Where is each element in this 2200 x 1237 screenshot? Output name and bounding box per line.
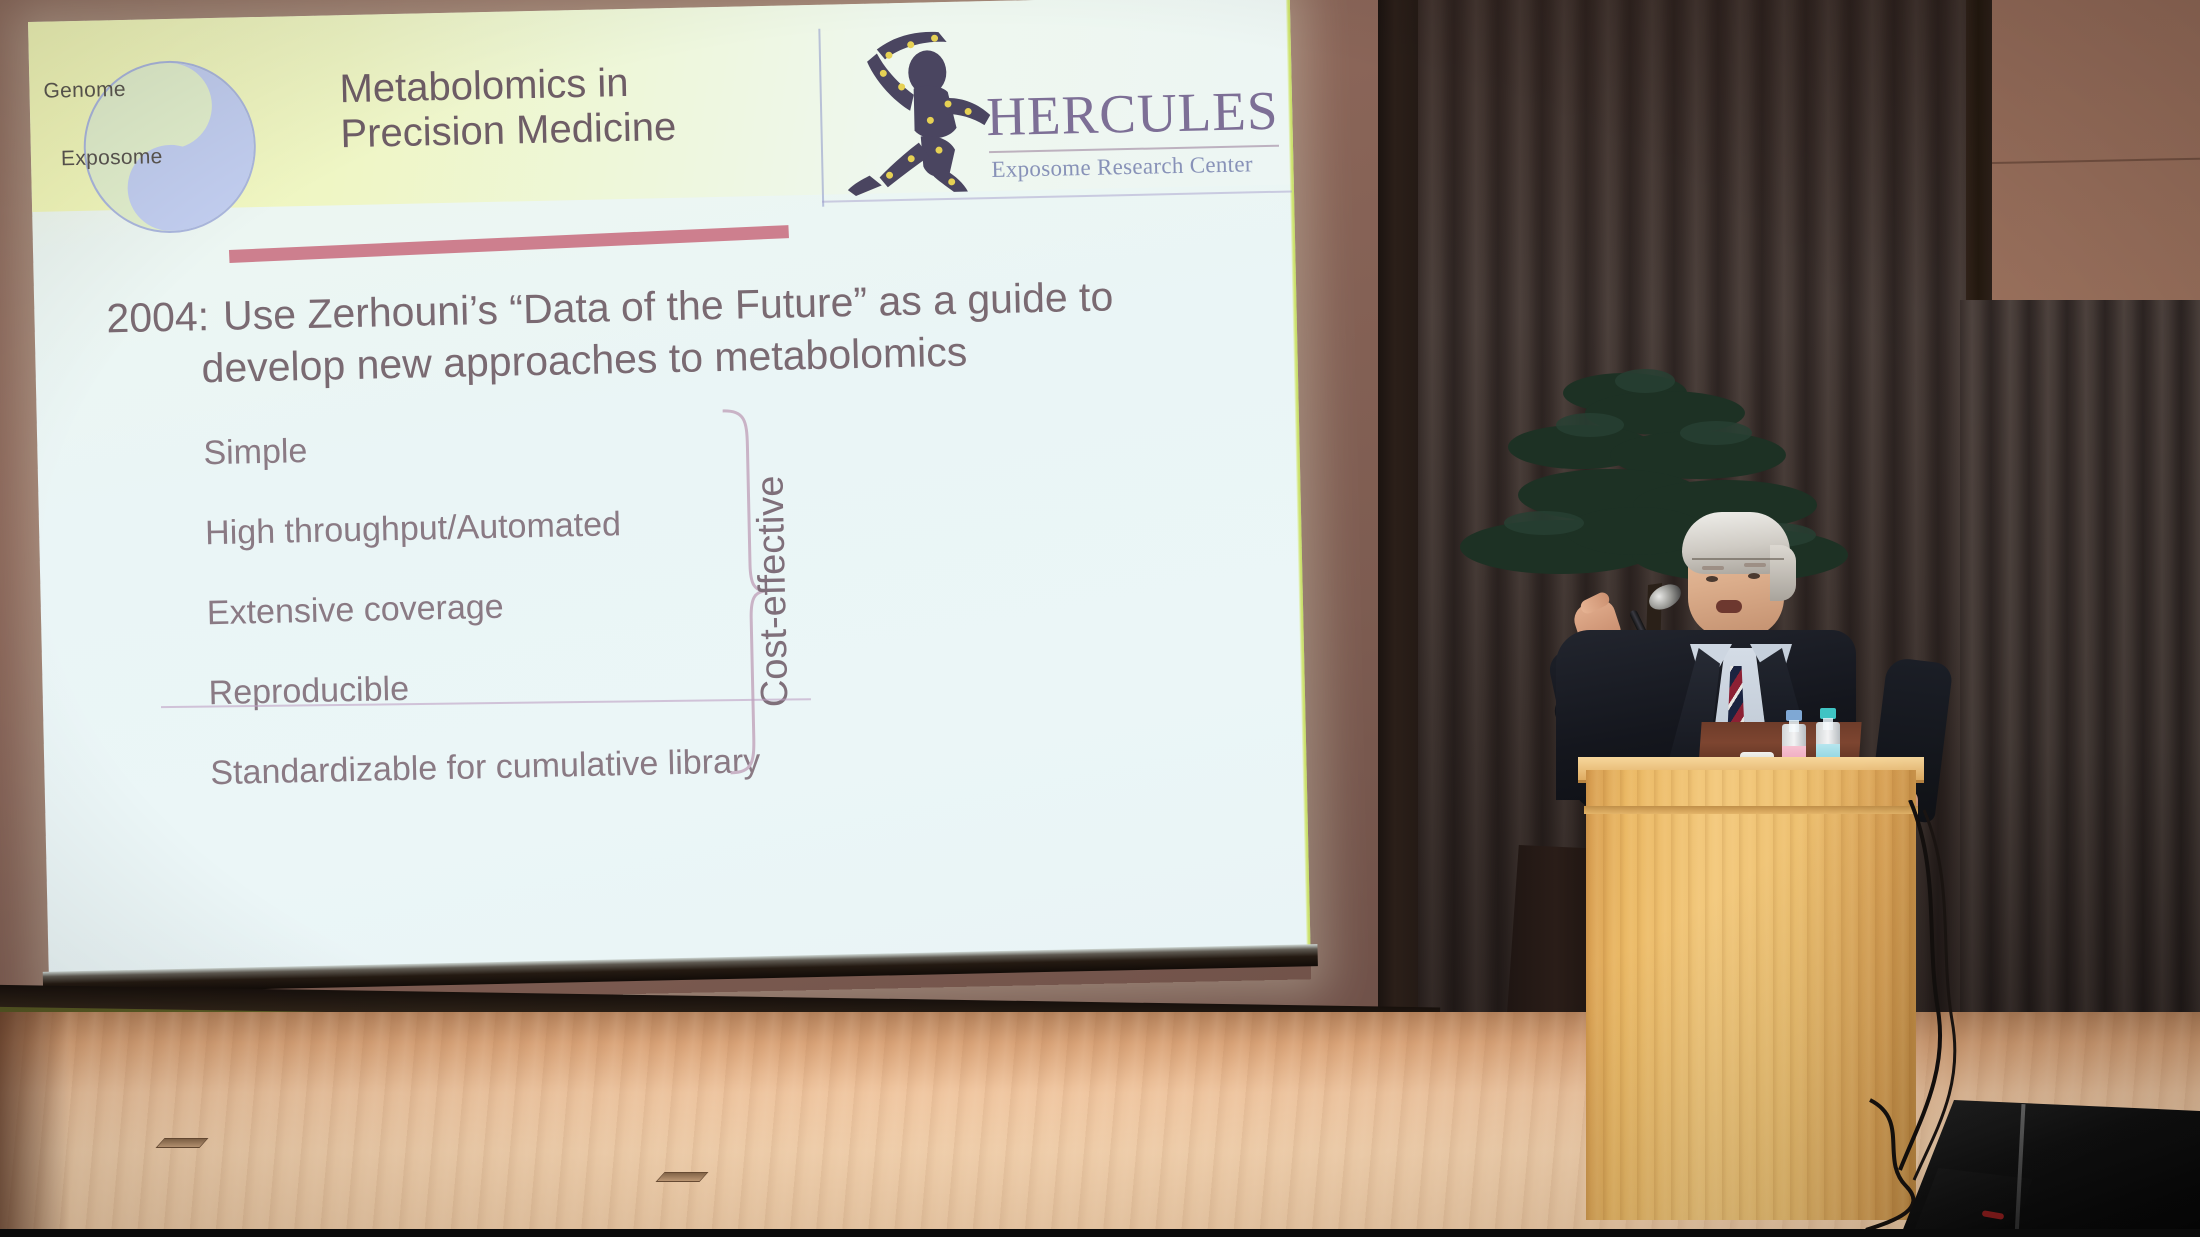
speaker-eye-right <box>1748 573 1760 579</box>
presentation-photo-scene: Genome Exposome Metabolomics in Precisio… <box>0 0 2200 1237</box>
wall-column-dark <box>1378 0 1420 1010</box>
floor-access-plate <box>155 1138 208 1148</box>
hercules-wordmark: HERCULES <box>986 83 1279 144</box>
floor-access-plate <box>655 1172 708 1182</box>
slide-title: Metabolomics in Precision Medicine <box>339 58 781 157</box>
hercules-tagline: Exposome Research Center <box>991 151 1253 183</box>
headline-year: 2004: <box>106 293 210 341</box>
yinyang-genome-label: Genome <box>43 78 126 104</box>
floor-shadow <box>0 1012 70 1237</box>
hercules-logo: HERCULES Exposome Research Center <box>836 5 1290 205</box>
speaker-eye-left <box>1706 576 1718 582</box>
podium-ledge <box>1584 806 1918 814</box>
projection-screen: Genome Exposome Metabolomics in Precisio… <box>28 0 1311 1007</box>
slide-headline: 2004:Use Zerhouni’s “Data of the Future”… <box>106 268 1208 397</box>
speaker-mouth <box>1716 600 1742 613</box>
presentation-slide: Genome Exposome Metabolomics in Precisio… <box>28 0 1310 974</box>
speaker-eyebrow-left <box>1702 566 1724 570</box>
yinyang-exposome-label: Exposome <box>61 145 163 171</box>
speaker-eyebrow-right <box>1744 563 1766 567</box>
cost-effective-label-wrap: Cost-effective <box>742 405 806 776</box>
photo-bottom-border <box>0 1229 2200 1237</box>
hercules-club-figure-icon <box>842 23 996 196</box>
cost-effective-label: Cost-effective <box>750 475 798 708</box>
accent-bar <box>229 225 789 263</box>
slide-title-line2: Precision Medicine <box>340 102 781 156</box>
